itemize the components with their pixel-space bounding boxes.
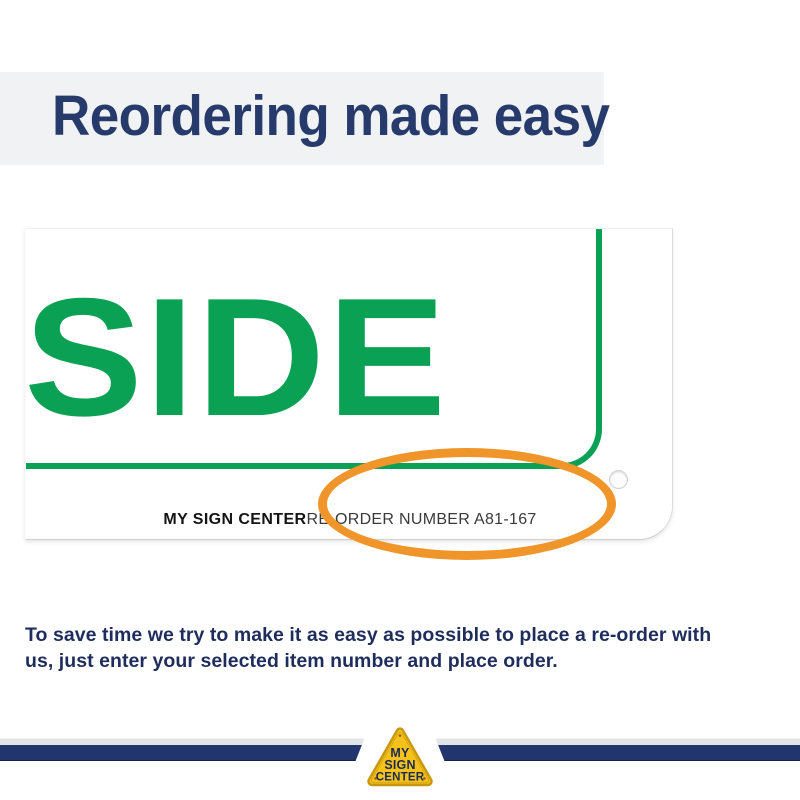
mounting-hole-icon	[609, 470, 628, 489]
reorder-number-highlight-ellipse	[318, 448, 616, 560]
body-paragraph: To save time we try to make it as easy a…	[25, 622, 743, 674]
my-sign-center-logo: MY SIGN CENTER	[365, 726, 435, 790]
sign-word-text: SIDE	[25, 273, 448, 441]
logo-line-3: CENTER	[376, 772, 425, 784]
logo-line-2: SIGN	[384, 758, 415, 772]
triangle-logo-icon: MY SIGN CENTER	[365, 726, 435, 790]
page-title: Reordering made easy	[52, 78, 573, 154]
sign-brand-label: MY SIGN CENTER	[163, 511, 306, 528]
logo-dot-top	[399, 734, 402, 737]
